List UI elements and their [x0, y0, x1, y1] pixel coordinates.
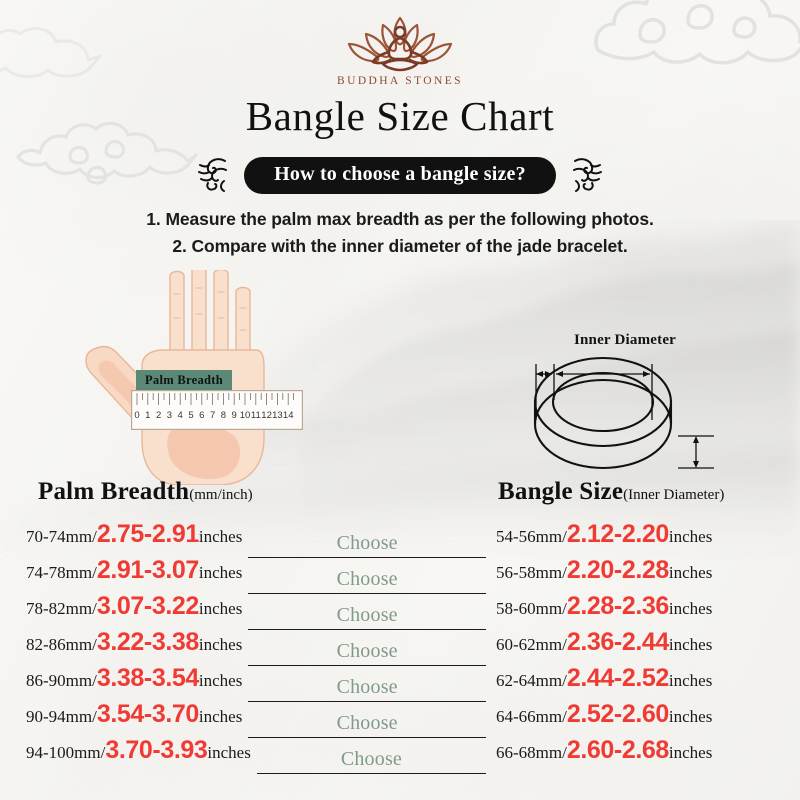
- palm-size-table: 70-74mm/2.75-2.91inchesChoose74-78mm/2.9…: [26, 522, 486, 774]
- svg-text:8: 8: [221, 410, 226, 421]
- instructions-block: 1. Measure the palm max breadth as per t…: [0, 206, 800, 260]
- bangle-mm-value: 66-68mm/: [496, 743, 567, 763]
- svg-text:7: 7: [210, 410, 215, 421]
- palm-mm-value: 82-86mm/: [26, 635, 97, 655]
- bangle-heading-main: Bangle Size: [498, 478, 623, 505]
- svg-text:4: 4: [178, 410, 183, 421]
- svg-text:0: 0: [134, 410, 139, 421]
- palm-unit-label: inches: [199, 563, 242, 583]
- bangle-unit-label: inches: [669, 635, 712, 655]
- palm-inch-value: 3.54-3.70: [97, 702, 199, 727]
- svg-text:12: 12: [261, 410, 272, 421]
- choose-slot[interactable]: Choose: [248, 639, 486, 666]
- palm-table-heading: Palm Breadth(mm/inch): [38, 478, 253, 506]
- palm-inch-value: 3.38-3.54: [97, 666, 199, 691]
- table-row: 78-82mm/3.07-3.22inchesChoose: [26, 594, 486, 630]
- bangle-inch-value: 2.28-2.36: [567, 594, 669, 619]
- palm-mm-value: 90-94mm/: [26, 707, 97, 727]
- palm-unit-label: inches: [199, 599, 242, 619]
- choose-slot[interactable]: Choose: [257, 747, 486, 774]
- choose-link[interactable]: Choose: [248, 676, 486, 699]
- choose-link[interactable]: Choose: [248, 604, 486, 627]
- choose-slot[interactable]: Choose: [248, 603, 486, 630]
- instruction-line-2: 2. Compare with the inner diameter of th…: [0, 233, 800, 260]
- bangle-mm-value: 56-58mm/: [496, 563, 567, 583]
- bangle-mm-value: 58-60mm/: [496, 599, 567, 619]
- table-row: 90-94mm/3.54-3.70inchesChoose: [26, 702, 486, 738]
- table-row: 62-64mm/2.44-2.52inches: [496, 666, 786, 702]
- choose-link[interactable]: Choose: [248, 532, 486, 555]
- palm-breadth-label: Palm Breadth: [136, 370, 232, 392]
- palm-mm-value: 86-90mm/: [26, 671, 97, 691]
- svg-text:3: 3: [167, 410, 172, 421]
- page-title: Bangle Size Chart: [0, 92, 800, 140]
- svg-text:5: 5: [188, 410, 193, 421]
- bangle-unit-label: inches: [669, 563, 712, 583]
- choose-slot[interactable]: Choose: [248, 675, 486, 702]
- table-row: 54-56mm/2.12-2.20inches: [496, 522, 786, 558]
- cloud-swirl-flourish-icon: [196, 155, 230, 195]
- bangle-inch-value: 2.44-2.52: [567, 666, 669, 691]
- svg-text:6: 6: [199, 410, 204, 421]
- palm-mm-value: 78-82mm/: [26, 599, 97, 619]
- lotus-meditation-icon: [339, 12, 461, 74]
- palm-inch-value: 2.75-2.91: [97, 522, 199, 547]
- palm-mm-value: 94-100mm/: [26, 743, 105, 763]
- banner-pill: How to choose a bangle size?: [244, 157, 556, 194]
- palm-unit-label: inches: [199, 635, 242, 655]
- bangle-mm-value: 62-64mm/: [496, 671, 567, 691]
- banner-row: How to choose a bangle size?: [0, 155, 800, 195]
- bangle-mm-value: 54-56mm/: [496, 527, 567, 547]
- svg-text:11: 11: [251, 410, 261, 421]
- palm-unit-label: inches: [199, 671, 242, 691]
- svg-text:9: 9: [232, 410, 237, 421]
- table-row: 66-68mm/2.60-2.68inches: [496, 738, 786, 774]
- choose-link[interactable]: Choose: [248, 568, 486, 591]
- palm-unit-label: inches: [207, 743, 250, 763]
- table-row: 64-66mm/2.52-2.60inches: [496, 702, 786, 738]
- palm-unit-label: inches: [199, 707, 242, 727]
- bangle-unit-label: inches: [669, 599, 712, 619]
- table-row: 86-90mm/3.38-3.54inchesChoose: [26, 666, 486, 702]
- palm-inch-value: 3.07-3.22: [97, 594, 199, 619]
- bangle-inch-value: 2.60-2.68: [567, 738, 669, 763]
- palm-mm-value: 74-78mm/: [26, 563, 97, 583]
- svg-text:14: 14: [283, 410, 294, 421]
- open-palm-hand-icon: [58, 270, 428, 485]
- bangle-unit-label: inches: [669, 527, 712, 547]
- bangle-inch-value: 2.52-2.60: [567, 702, 669, 727]
- bangle-unit-label: inches: [669, 743, 712, 763]
- table-row: 94-100mm/3.70-3.93inchesChoose: [26, 738, 486, 774]
- choose-slot[interactable]: Choose: [248, 567, 486, 594]
- choose-link[interactable]: Choose: [248, 640, 486, 663]
- table-row: 70-74mm/2.75-2.91inchesChoose: [26, 522, 486, 558]
- bangle-size-table: 54-56mm/2.12-2.20inches56-58mm/2.20-2.28…: [496, 522, 786, 774]
- cloud-swirl-flourish-icon: [570, 155, 604, 195]
- palm-inch-value: 3.70-3.93: [105, 738, 207, 763]
- bangle-mm-value: 64-66mm/: [496, 707, 567, 727]
- bangle-unit-label: inches: [669, 671, 712, 691]
- palm-inch-value: 3.22-3.38: [97, 630, 199, 655]
- table-row: 60-62mm/2.36-2.44inches: [496, 630, 786, 666]
- choose-slot[interactable]: Choose: [248, 711, 486, 738]
- svg-text:1: 1: [145, 410, 150, 421]
- bangle-mm-value: 60-62mm/: [496, 635, 567, 655]
- bangle-inch-value: 2.12-2.20: [567, 522, 669, 547]
- palm-heading-main: Palm Breadth: [38, 478, 189, 505]
- palm-mm-value: 70-74mm/: [26, 527, 97, 547]
- table-row: 58-60mm/2.28-2.36inches: [496, 594, 786, 630]
- bangle-inch-value: 2.20-2.28: [567, 558, 669, 583]
- bangle-heading-unit: (Inner Diameter): [623, 487, 724, 503]
- bangle-unit-label: inches: [669, 707, 712, 727]
- svg-text:13: 13: [272, 410, 283, 421]
- palm-unit-label: inches: [199, 527, 242, 547]
- brand-logo: BUDDHA STONES: [0, 12, 800, 87]
- instruction-line-1: 1. Measure the palm max breadth as per t…: [0, 206, 800, 233]
- svg-text:2: 2: [156, 410, 161, 421]
- brand-wordmark: BUDDHA STONES: [0, 75, 800, 87]
- svg-text:10: 10: [240, 410, 251, 421]
- bangle-table-heading: Bangle Size(Inner Diameter): [498, 478, 724, 506]
- palm-inch-value: 2.91-3.07: [97, 558, 199, 583]
- choose-link[interactable]: Choose: [257, 748, 486, 771]
- table-row: 82-86mm/3.22-3.38inchesChoose: [26, 630, 486, 666]
- table-row: 74-78mm/2.91-3.07inchesChoose: [26, 558, 486, 594]
- choose-slot[interactable]: Choose: [248, 531, 486, 558]
- table-row: 56-58mm/2.20-2.28inches: [496, 558, 786, 594]
- bangle-ring-diagram-icon: [500, 326, 750, 486]
- bangle-inch-value: 2.36-2.44: [567, 630, 669, 655]
- choose-link[interactable]: Choose: [248, 712, 486, 735]
- ruler-icon: 012 345 678 91011 121314: [131, 390, 303, 430]
- palm-heading-unit: (mm/inch): [189, 487, 252, 503]
